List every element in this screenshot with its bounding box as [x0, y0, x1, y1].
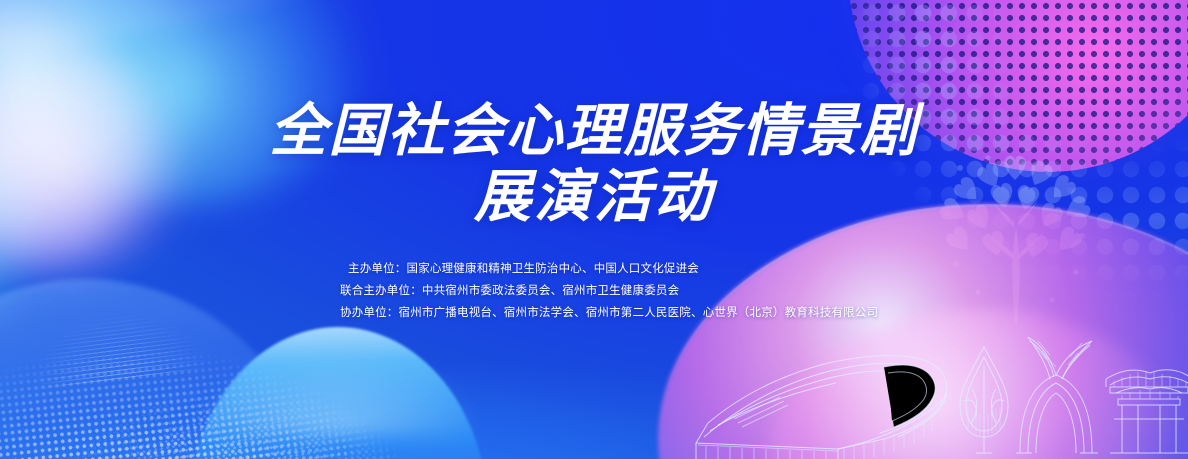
banner-title-line-1: 全国社会心理服务情景剧: [270, 98, 919, 164]
organizer-list: 主办单位：国家心理健康和精神卫生防治中心、中国人口文化促进会 联合主办单位：中共…: [340, 258, 860, 324]
organizer-line-host: 主办单位：国家心理健康和精神卫生防治中心、中国人口文化促进会: [340, 258, 860, 280]
organizer-line-supporter: 协办单位：宿州市广播电视台、宿州市法学会、宿州市第二人民医院、心世界（北京）教育…: [340, 302, 860, 324]
title-block: 全国社会心理服务情景剧 展演活动: [270, 98, 919, 230]
organizer-line-co-host: 联合主办单位：中共宿州市委政法委员会、宿州市卫生健康委员会: [340, 280, 860, 302]
event-banner: 全国社会心理服务情景剧 展演活动 主办单位：国家心理健康和精神卫生防治中心、中国…: [0, 0, 1188, 459]
banner-title-line-2: 展演活动: [270, 164, 919, 230]
banner-content: 全国社会心理服务情景剧 展演活动 主办单位：国家心理健康和精神卫生防治中心、中国…: [0, 0, 1188, 459]
